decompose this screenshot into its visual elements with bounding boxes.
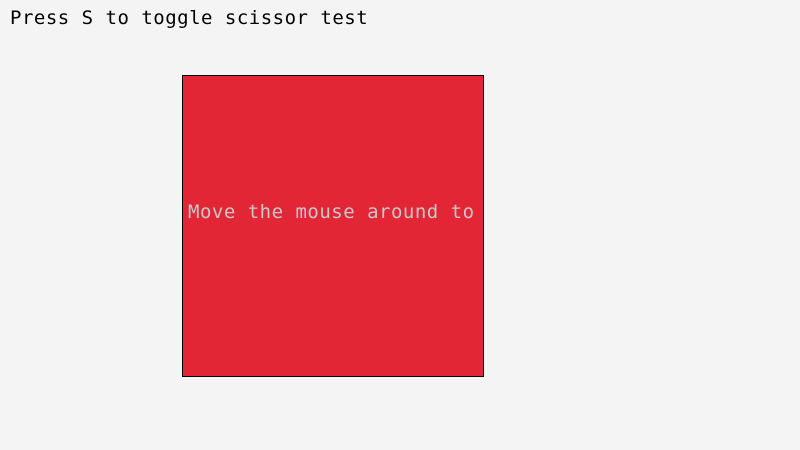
scissor-rectangle[interactable]: Move the mouse around to reveal the text… [182, 75, 484, 377]
scissor-clipped-message: Move the mouse around to reveal the text… [188, 200, 484, 224]
scissor-fill [183, 76, 483, 376]
scissor-toggle-hint: Press S to toggle scissor test [10, 6, 368, 30]
app-canvas: Press S to toggle scissor test Move the … [0, 0, 800, 450]
